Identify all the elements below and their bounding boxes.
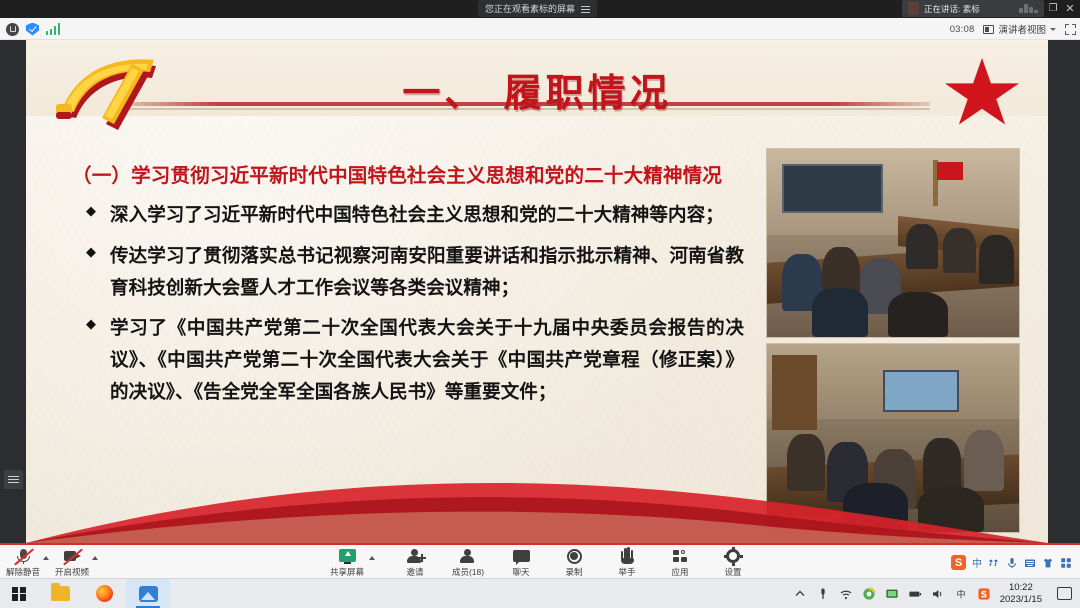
action-center-icon[interactable] <box>1057 587 1072 600</box>
ime-toolbox-icon[interactable] <box>1060 557 1072 569</box>
microphone-muted-icon <box>14 548 33 565</box>
taskbar-item-meeting-app[interactable] <box>126 579 170 608</box>
settings-label: 设置 <box>724 566 741 578</box>
taskbar-clock[interactable]: 10:22 2023/1/15 <box>1000 582 1042 606</box>
settings-button[interactable]: 设置 <box>716 548 750 578</box>
participants-label: 成员(18) <box>452 566 484 578</box>
invite-button[interactable]: 邀请 <box>398 548 432 578</box>
share-screen-button[interactable]: 共享屏幕 <box>330 548 364 578</box>
network-signal-icon[interactable] <box>46 23 60 35</box>
slide-bullet: 传达学习了贯彻落实总书记视察河南安阳重要讲话和指示批示精神、河南省教育科技创新大… <box>84 241 744 305</box>
participants-icon <box>459 548 478 565</box>
sogou-ime-bar[interactable]: S 中 <box>951 555 1076 570</box>
system-tray: 中 S 10:22 2023/1/15 <box>793 582 1080 606</box>
slide-photo-meeting-room-1 <box>766 148 1020 338</box>
meeting-toolbar: 解除静音 开启视频 共享屏幕 <box>0 543 1080 578</box>
display-icon[interactable] <box>885 587 899 601</box>
record-button[interactable]: 录制 <box>557 548 591 578</box>
raise-hand-label: 举手 <box>618 566 635 578</box>
voice-input-icon[interactable] <box>1006 557 1018 569</box>
folder-icon <box>51 586 70 601</box>
svg-text:中: 中 <box>956 588 965 600</box>
fullscreen-icon[interactable] <box>1065 24 1076 35</box>
chevron-down-icon[interactable] <box>1050 28 1056 31</box>
speaker-view-icon <box>983 25 994 34</box>
firefox-icon <box>96 585 113 602</box>
apps-button[interactable]: 应用 <box>663 548 697 578</box>
windows-taskbar: 中 S 10:22 2023/1/15 <box>0 578 1080 608</box>
skin-shirt-icon[interactable] <box>1042 557 1054 569</box>
clock-date: 2023/1/15 <box>1000 594 1042 606</box>
view-mode-label: 演讲者视图 <box>998 22 1046 36</box>
slide-decorative-swoosh <box>26 423 1048 543</box>
meeting-timer: 03:08 <box>950 24 975 35</box>
usb-device-icon[interactable] <box>816 587 830 601</box>
apps-grid-icon <box>671 548 690 565</box>
screen-share-notification-bar: 您正在观看素标的屏幕 正在讲话: 素标 ❐ ✕ <box>0 0 1080 18</box>
close-icon[interactable]: ✕ <box>1062 1 1078 16</box>
unmute-label: 解除静音 <box>6 566 40 578</box>
wifi-icon[interactable] <box>839 587 853 601</box>
clock-time: 10:22 <box>1000 582 1042 594</box>
meeting-window-header: 03:08 演讲者视图 <box>0 18 1080 40</box>
sogou-logo-icon[interactable]: S <box>951 555 966 570</box>
restore-window-icon[interactable]: ❐ <box>1045 1 1061 16</box>
chat-button[interactable]: 聊天 <box>504 548 538 578</box>
start-video-button[interactable]: 开启视频 <box>55 548 89 578</box>
security-shield-icon[interactable] <box>26 23 39 36</box>
taskbar-item-file-explorer[interactable] <box>38 579 82 608</box>
audio-options-chevron-icon[interactable] <box>43 556 49 560</box>
share-screen-icon <box>337 548 356 565</box>
ime-mode-label[interactable]: 中 <box>972 555 982 570</box>
windows-start-icon[interactable] <box>0 579 38 608</box>
punctuation-icon[interactable] <box>988 557 1000 569</box>
invite-label: 邀请 <box>406 566 423 578</box>
invite-person-icon <box>406 548 425 565</box>
slide-bullet: 深入学习了习近平新时代中国特色社会主义思想和党的二十大精神等内容； <box>84 200 744 232</box>
chat-label: 聊天 <box>512 566 529 578</box>
meeting-app-icon <box>139 586 158 602</box>
sogou-tray-icon[interactable]: S <box>977 587 991 601</box>
settings-gear-icon <box>724 548 743 565</box>
record-lock-icon[interactable] <box>6 23 19 36</box>
taskbar-item-firefox[interactable] <box>82 579 126 608</box>
start-video-label: 开启视频 <box>55 566 89 578</box>
slide-bullet: 学习了《中国共产党第二十次全国代表大会关于十九届中央委员会报告的决议》、《中国共… <box>84 313 744 408</box>
raise-hand-button[interactable]: 举手 <box>610 548 644 578</box>
viewing-screen-pill[interactable]: 您正在观看素标的屏幕 <box>478 0 597 17</box>
audio-wave-icon <box>1019 4 1038 13</box>
viewing-screen-label: 您正在观看素标的屏幕 <box>485 2 575 15</box>
battery-icon[interactable] <box>908 587 922 601</box>
share-options-chevron-icon[interactable] <box>369 556 375 560</box>
show-hidden-icons-chevron[interactable] <box>793 587 807 601</box>
slide-title: 一、 履职情况 <box>26 62 1048 117</box>
left-rail <box>0 40 26 543</box>
slide-bullet-list: 深入学习了习近平新时代中国特色社会主义思想和党的二十大精神等内容； 传达学习了贯… <box>84 200 744 418</box>
record-label: 录制 <box>565 566 582 578</box>
screen: 您正在观看素标的屏幕 正在讲话: 素标 ❐ ✕ 03:08 演讲者视图 <box>0 0 1080 608</box>
volume-icon[interactable] <box>931 587 945 601</box>
soft-keyboard-icon[interactable] <box>1024 557 1036 569</box>
svg-text:S: S <box>980 590 986 600</box>
browser-icon[interactable] <box>862 587 876 601</box>
video-options-chevron-icon[interactable] <box>92 556 98 560</box>
thumbnail-list-icon[interactable] <box>4 470 23 489</box>
participants-button[interactable]: 成员(18) <box>451 548 485 578</box>
chat-bubble-icon <box>512 548 531 565</box>
view-mode-selector[interactable]: 演讲者视图 <box>983 22 1056 36</box>
record-icon <box>565 548 584 565</box>
unmute-button[interactable]: 解除静音 <box>6 548 40 578</box>
active-speaker-pill[interactable]: 正在讲话: 素标 <box>902 0 1044 17</box>
menu-lines-icon[interactable] <box>581 5 590 13</box>
presentation-slide: 一、 履职情况 （一）学习贯彻习近平新时代中国特色社会主义思想和党的二十大精神情… <box>26 40 1048 543</box>
share-screen-label: 共享屏幕 <box>330 566 364 578</box>
speaker-thumbnail <box>908 2 919 15</box>
active-speaker-label: 正在讲话: 素标 <box>924 3 980 15</box>
ime-status-icon[interactable]: 中 <box>954 587 968 601</box>
apps-label: 应用 <box>671 566 688 578</box>
raise-hand-icon <box>618 548 637 565</box>
camera-off-icon <box>63 548 82 565</box>
